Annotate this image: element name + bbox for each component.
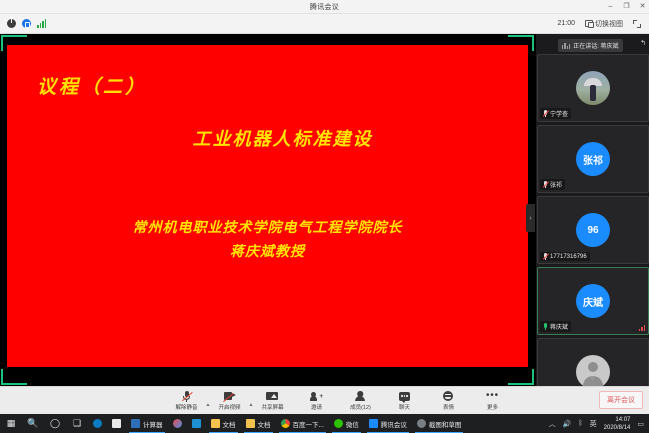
meeting-timer: 21:00 [557,20,575,27]
taskbar-date: 2020/8/14 [604,424,631,432]
tencent-meeting-icon [369,419,378,428]
window-title: 腾讯会议 [310,2,339,12]
slide-title: 工业机器人标准建设 [7,125,528,151]
control-label: 更多 [487,403,498,411]
taskbar-app-chrome[interactable]: 百度一下... [276,414,329,433]
speaking-label: 正在讲话: 蒋庆斌 [573,41,618,50]
search-button[interactable]: 🔍 [22,414,44,433]
control-label: 成员(12) [350,403,371,411]
participant-tile[interactable]: 庆斌蒋庆斌 [537,267,649,335]
taskbar-app-label: 计算器 [143,419,163,429]
speaking-wave-icon [562,43,570,49]
taskbar-app-label: 微信 [346,419,359,429]
mail-icon [192,419,201,428]
taskbar-app-tencent-meeting[interactable]: 腾讯会议 [364,414,412,433]
control-more[interactable]: •••更多 [477,390,507,411]
switch-view-button[interactable]: 切换视图 [585,19,623,29]
emoji-icon [443,390,453,402]
minimize-button[interactable]: – [606,0,615,14]
info-icon[interactable] [7,19,16,28]
taskbar-system-buttons: ▦🔍◯❑ [0,414,88,433]
taskbar-app-wechat[interactable]: 微信 [329,414,364,433]
share-border-corner-bottom-left [1,369,27,385]
control-label: 解除静音 [176,403,198,411]
avatar: 庆斌 [576,284,610,318]
control-label: 聊天 [399,403,410,411]
meeting-sub-toolbar: 21:00 切换视图 [0,14,649,34]
paint-icon [173,419,182,428]
task-view-button[interactable]: ❑ [66,414,88,433]
mic-muted-icon [543,253,548,260]
invite-icon: + [310,390,323,402]
bluetooth-icon[interactable]: ᛒ [578,420,582,427]
mic-muted-icon [543,181,548,188]
participant-tile-list: 宁学查张祁张祁9617717316796庆斌蒋庆斌何智奇 [536,54,649,406]
microsoft-store-icon [112,419,121,428]
window-title-bar: 腾讯会议 – ❐ ✕ [0,0,649,14]
taskbar-app-microsoft-store[interactable] [107,414,126,433]
control-mic-muted[interactable]: 解除静音 [172,390,202,411]
participant-tile[interactable]: 宁学查 [537,54,649,122]
participant-name: 蒋庆斌 [550,322,568,331]
share-border-corner-bottom-right [508,369,534,385]
network-signal-icon [639,325,645,331]
taskbar-app-label: 腾讯会议 [381,419,407,429]
participant-name: 17717316796 [550,254,587,260]
taskbar-app-snip-sketch[interactable]: 截图和草图 [412,414,467,433]
cortana-button[interactable]: ◯ [44,414,66,433]
participant-name-badge: 张祁 [540,179,565,190]
taskbar-app-folder[interactable]: 文档 [241,414,276,433]
control-invite[interactable]: +邀请 [301,390,331,411]
window-controls: – ❐ ✕ [606,0,647,14]
slide-subtitle-line1: 常州机电职业技术学院电气工程学院院长 [7,217,528,237]
taskbar-app-mail[interactable] [187,414,206,433]
taskbar-app-label: 百度一下... [293,419,324,429]
folder-icon [211,419,220,428]
control-camera-off[interactable]: 开启视频 [215,390,245,411]
participant-name: 张祁 [550,180,562,189]
avatar [576,71,610,105]
taskbar-clock[interactable]: 14:07 2020/8/14 [604,416,631,432]
speaking-indicator: 正在讲话: 蒋庆斌 [558,39,623,52]
start-button[interactable]: ▦ [0,414,22,433]
participant-sidebar: 正在讲话: 蒋庆斌 ↰ 宁学查张祁张祁9617717316796庆斌蒋庆斌何智奇… [535,34,649,386]
windows-taskbar: ▦🔍◯❑ 计算器文档文档百度一下...微信腾讯会议截图和草图 ︿ 🔊 ᛒ 英 1… [0,414,649,433]
presentation-slide: 议程（二） 工业机器人标准建设 常州机电职业技术学院电气工程学院院长 蒋庆斌教授 [7,45,528,367]
participant-tile[interactable]: 9617717316796 [537,196,649,264]
tencent-meeting-window: 腾讯会议 – ❐ ✕ 21:00 切换视图 议程（二） 工 [0,0,649,433]
meeting-toolbar-right: 21:00 切换视图 [557,19,649,29]
speaker-icon[interactable]: 🔊 [563,420,572,428]
shared-screen-stage[interactable]: 议程（二） 工业机器人标准建设 常州机电职业技术学院电气工程学院院长 蒋庆斌教授… [0,34,535,386]
system-tray: ︿ 🔊 ᛒ 英 14:07 2020/8/14 ▭ [549,416,649,432]
taskbar-app-paint[interactable] [168,414,187,433]
switch-view-label: 切换视图 [595,19,623,29]
camera-off-icon [224,390,236,402]
meeting-status-icons [0,19,46,28]
participant-name-badge: 17717316796 [540,252,590,261]
control-members[interactable]: 成员(12) [345,390,375,411]
folder-icon [246,419,255,428]
snip-sketch-icon [417,419,426,428]
edge-icon [93,419,102,428]
participant-name: 宁学查 [550,109,568,118]
control-label: 共享屏幕 [261,403,283,411]
participant-name-badge: 蒋庆斌 [540,321,571,332]
control-emoji[interactable]: 表情 [433,390,463,411]
share-screen-icon [266,390,278,402]
mic-muted-icon [183,390,190,402]
taskbar-app-calculator[interactable]: 计算器 [126,414,168,433]
control-share-screen[interactable]: 共享屏幕 [257,390,287,411]
tray-chevron-icon[interactable]: ︿ [549,419,556,429]
chevron-up-icon[interactable]: ▲ [206,402,211,408]
meeting-control-bar: 解除静音▲开启视频▲共享屏幕+邀请成员(12)聊天表情•••更多 离开会议 [0,386,649,414]
chat-icon [399,390,410,402]
taskbar-app-label: 截图和草图 [429,419,462,429]
avatar: 张祁 [576,142,610,176]
taskbar-app-edge[interactable] [88,414,107,433]
participant-tile[interactable]: 张祁张祁 [537,125,649,193]
mic-muted-icon [543,110,548,117]
signal-icon[interactable] [37,19,46,28]
sidebar-collapse-handle[interactable]: › [526,204,535,232]
wechat-icon [334,419,343,428]
maximize-button[interactable]: ❐ [622,0,631,14]
calculator-icon [131,419,140,428]
avatar [576,355,610,389]
taskbar-app-label: 文档 [223,419,236,429]
sidebar-collapse-icon[interactable]: ↰ [640,39,646,47]
taskbar-time: 14:07 [615,416,630,424]
leave-meeting-button[interactable]: 离开会议 [599,391,643,409]
notification-icon[interactable]: ▭ [637,420,644,428]
control-label: 邀请 [311,403,322,411]
participant-name-badge: 宁学查 [540,108,571,119]
lock-icon[interactable] [22,19,31,28]
slide-subtitle-line2: 蒋庆斌教授 [7,241,528,261]
members-icon [355,390,366,402]
more-icon: ••• [486,390,499,402]
slide-agenda-label: 议程（二） [37,72,147,99]
chrome-icon [281,419,290,428]
meeting-control-items: 解除静音▲开启视频▲共享屏幕+邀请成员(12)聊天表情•••更多 [142,390,508,411]
control-label: 开启视频 [218,403,240,411]
avatar: 96 [576,213,610,247]
mic-on-icon [543,323,548,330]
taskbar-apps: 计算器文档文档百度一下...微信腾讯会议截图和草图 [88,414,466,433]
fullscreen-icon[interactable] [633,20,641,28]
close-button[interactable]: ✕ [638,0,647,14]
chevron-up-icon[interactable]: ▲ [249,402,254,408]
ime-indicator[interactable]: 英 [590,419,597,429]
switch-view-icon [585,20,593,27]
control-label: 表情 [443,403,454,411]
taskbar-app-folder[interactable]: 文档 [206,414,241,433]
taskbar-app-label: 文档 [258,419,271,429]
scroll-down-icon[interactable]: ▼ [536,374,649,383]
control-chat[interactable]: 聊天 [389,390,419,411]
